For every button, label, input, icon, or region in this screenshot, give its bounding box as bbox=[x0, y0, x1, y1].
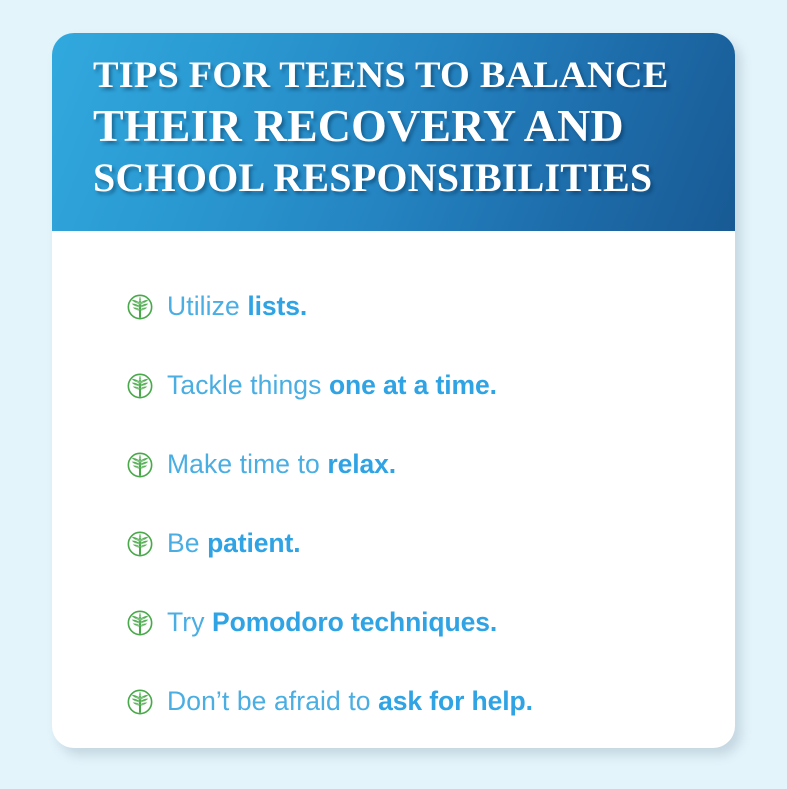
tip-item: Be patient. bbox=[127, 504, 695, 583]
tip-text-lead: Be bbox=[167, 528, 207, 558]
tip-text-lead: Make time to bbox=[167, 449, 327, 479]
infographic-root: TIPS FOR TEENS TO BALANCE THEIR RECOVERY… bbox=[0, 0, 787, 789]
card-header-banner: TIPS FOR TEENS TO BALANCE THEIR RECOVERY… bbox=[52, 33, 735, 231]
tree-icon bbox=[127, 452, 153, 478]
tip-item: Don’t be afraid to ask for help. bbox=[127, 662, 695, 741]
tip-item: Make time to relax. bbox=[127, 425, 695, 504]
title-line-3: SCHOOL RESPONSIBILITIES bbox=[93, 158, 705, 198]
tip-item: Utilize lists. bbox=[127, 267, 695, 346]
tip-item: Tackle things one at a time. bbox=[127, 346, 695, 425]
tips-list: Utilize lists.Tackle things one at a tim… bbox=[127, 267, 695, 741]
tip-text: Try Pomodoro techniques. bbox=[167, 608, 497, 637]
tree-icon bbox=[127, 610, 153, 636]
card-body: Utilize lists.Tackle things one at a tim… bbox=[52, 231, 735, 741]
tip-text: Utilize lists. bbox=[167, 292, 307, 321]
tip-text-emphasis: patient. bbox=[207, 528, 300, 558]
tree-icon bbox=[127, 689, 153, 715]
tip-text-emphasis: relax. bbox=[327, 449, 396, 479]
tip-text-lead: Don’t be afraid to bbox=[167, 686, 378, 716]
tree-icon bbox=[127, 294, 153, 320]
tree-icon bbox=[127, 531, 153, 557]
title-line-1: TIPS FOR TEENS TO BALANCE bbox=[93, 57, 726, 94]
tip-text-lead: Tackle things bbox=[167, 370, 329, 400]
title-line-2: THEIR RECOVERY AND bbox=[93, 104, 717, 149]
tips-card: TIPS FOR TEENS TO BALANCE THEIR RECOVERY… bbox=[52, 33, 735, 748]
tip-text-emphasis: one at a time. bbox=[329, 370, 497, 400]
tip-text: Tackle things one at a time. bbox=[167, 371, 497, 400]
tip-text-emphasis: ask for help. bbox=[378, 686, 533, 716]
tip-text: Be patient. bbox=[167, 529, 301, 558]
tip-text: Don’t be afraid to ask for help. bbox=[167, 687, 533, 716]
tip-text-emphasis: Pomodoro techniques. bbox=[212, 607, 497, 637]
tip-item: Try Pomodoro techniques. bbox=[127, 583, 695, 662]
tree-icon bbox=[127, 373, 153, 399]
tip-text-emphasis: lists. bbox=[247, 291, 307, 321]
tip-text-lead: Try bbox=[167, 607, 212, 637]
tip-text: Make time to relax. bbox=[167, 450, 396, 479]
tip-text-lead: Utilize bbox=[167, 291, 247, 321]
